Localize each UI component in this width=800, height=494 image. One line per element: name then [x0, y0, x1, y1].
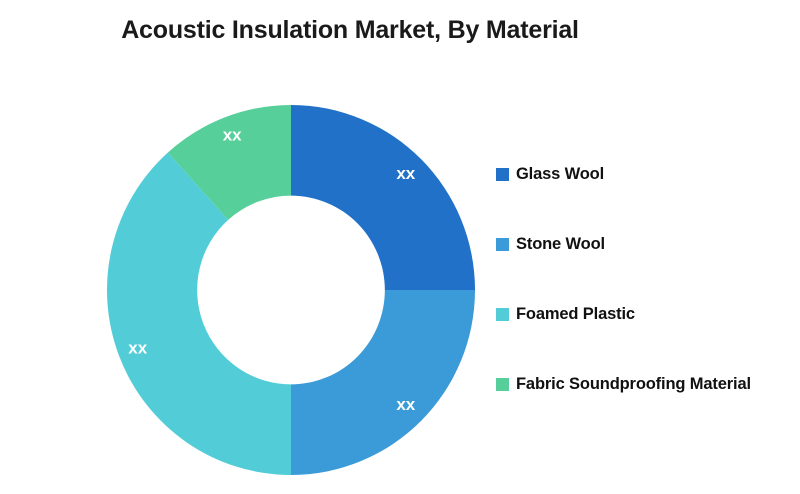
legend-label-glass-wool: Glass Wool: [516, 165, 604, 184]
slice-value-label-glass-wool: xx: [396, 164, 415, 183]
legend-item-foamed-plastic[interactable]: Foamed Plastic: [496, 303, 800, 325]
donut-chart: xx xx xx xx: [0, 60, 500, 494]
chart-page: Acoustic Insulation Market, By Material …: [0, 0, 800, 494]
legend-label-stone-wool: Stone Wool: [516, 235, 605, 254]
slice-value-label-stone-wool: xx: [396, 395, 415, 414]
donut-slice-glass-wool[interactable]: [291, 105, 475, 290]
legend-swatch-icon-fabric-soundproofing-material: [496, 378, 509, 391]
slice-value-label-foamed-plastic: xx: [128, 339, 147, 358]
legend-swatch-icon-foamed-plastic: [496, 308, 509, 321]
donut-slice-stone-wool[interactable]: [291, 290, 475, 475]
legend-swatch-icon-stone-wool: [496, 238, 509, 251]
legend-item-glass-wool[interactable]: Glass Wool: [496, 163, 800, 185]
page-title: Acoustic Insulation Market, By Material: [0, 16, 700, 45]
donut-chart-svg: xx xx xx xx: [0, 60, 500, 494]
legend-item-stone-wool[interactable]: Stone Wool: [496, 233, 800, 255]
legend-swatch-icon-glass-wool: [496, 168, 509, 181]
donut-slice-foamed-plastic[interactable]: [107, 153, 291, 475]
chart-legend: Glass Wool Stone Wool Foamed Plastic Fab…: [496, 163, 800, 395]
legend-label-fabric-soundproofing-material: Fabric Soundproofing Material: [516, 375, 751, 394]
legend-item-fabric-soundproofing-material[interactable]: Fabric Soundproofing Material: [496, 373, 800, 395]
slice-value-label-fabric-soundproofing-material: xx: [223, 125, 242, 144]
legend-label-foamed-plastic: Foamed Plastic: [516, 305, 635, 324]
